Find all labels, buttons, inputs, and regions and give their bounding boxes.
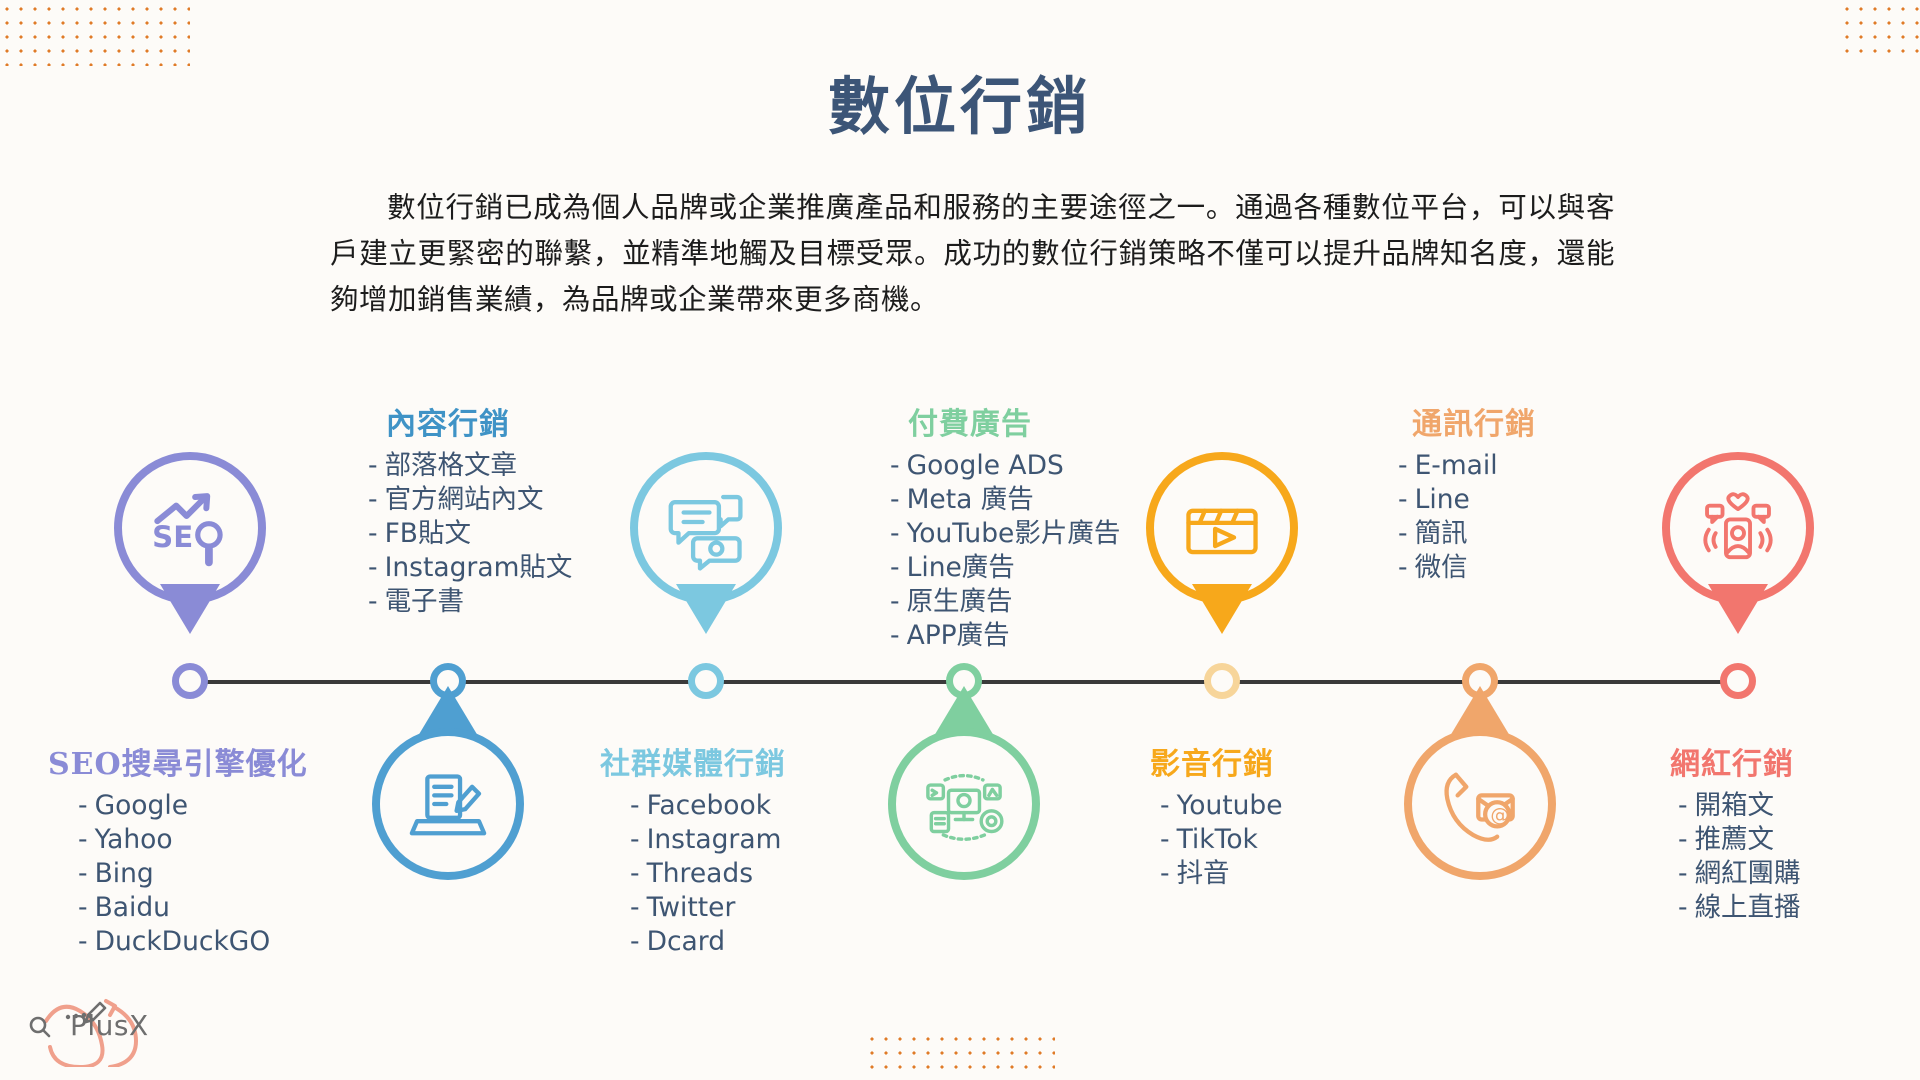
list-item: -部落格文章	[368, 449, 572, 483]
section-heading-seo: SEO搜尋引擎優化	[48, 748, 308, 783]
phone-envelope-at-icon: @	[1437, 761, 1523, 847]
list-item: -Threads	[630, 857, 786, 891]
dot-grid-top-right	[1840, 2, 1920, 62]
timeline-node-seo[interactable]	[172, 663, 208, 699]
section-paid: 付費廣告 -Google ADS -Meta 廣告 -YouTube影片廣告 -…	[890, 408, 1120, 653]
intro-paragraph: 數位行銷已成為個人品牌或企業推廣產品和服務的主要途徑之一。通過各種數位平台，可以…	[330, 185, 1615, 323]
list-item: -E-mail	[1398, 449, 1536, 483]
list-item: -DuckDuckGO	[78, 925, 308, 959]
list-item: -FB貼文	[368, 517, 572, 551]
list-item: -Instagram貼文	[368, 551, 572, 585]
list-item: -簡訊	[1398, 517, 1536, 551]
list-item: -Google	[78, 789, 308, 823]
dot-grid-top-left	[0, 2, 190, 66]
section-list-paid: -Google ADS -Meta 廣告 -YouTube影片廣告 -Line廣…	[890, 449, 1120, 653]
list-item: -YouTube影片廣告	[890, 517, 1120, 551]
list-item: -Yahoo	[78, 823, 308, 857]
section-list-content: -部落格文章 -官方網站內文 -FB貼文 -Instagram貼文 -電子書	[368, 449, 572, 619]
list-item: -Twitter	[630, 891, 786, 925]
section-heading-content: 內容行銷	[368, 408, 572, 443]
infographic-canvas: 數位行銷 數位行銷已成為個人品牌或企業推廣產品和服務的主要途徑之一。通過各種數位…	[0, 0, 1920, 1080]
list-item: -Bing	[78, 857, 308, 891]
logo-wordmark: PlusX	[70, 1009, 149, 1042]
list-item: -Meta 廣告	[890, 483, 1120, 517]
list-item: -網紅團購	[1678, 857, 1801, 891]
section-heading-influencer: 網紅行銷	[1648, 748, 1801, 783]
list-item: -Line	[1398, 483, 1536, 517]
pin-marker-seo[interactable]: SE	[114, 452, 266, 634]
pin-marker-paid[interactable]	[888, 728, 1040, 910]
list-item: -原生廣告	[890, 585, 1120, 619]
pin-marker-content[interactable]	[372, 728, 524, 910]
section-influencer: 網紅行銷 -開箱文 -推薦文 -網紅團購 -線上直播	[1648, 748, 1801, 925]
section-heading-comms: 通訊行銷	[1398, 408, 1536, 443]
timeline-node-video[interactable]	[1204, 663, 1240, 699]
section-heading-social: 社群媒體行銷	[600, 748, 786, 783]
pin-marker-comms[interactable]: @	[1404, 728, 1556, 910]
timeline-node-social[interactable]	[688, 663, 724, 699]
pin-marker-social[interactable]	[630, 452, 782, 634]
list-item: -Facebook	[630, 789, 786, 823]
list-item: -官方網站內文	[368, 483, 572, 517]
section-heading-video: 影音行銷	[1130, 748, 1283, 783]
list-item: -Line廣告	[890, 551, 1120, 585]
list-item: -Dcard	[630, 925, 786, 959]
list-item: -抖音	[1160, 857, 1283, 891]
clapperboard-play-icon	[1179, 485, 1265, 571]
list-item: -微信	[1398, 551, 1536, 585]
dot-grid-bottom-center	[865, 1032, 1055, 1074]
section-list-influencer: -開箱文 -推薦文 -網紅團購 -線上直播	[1648, 789, 1801, 925]
list-item: -Google ADS	[890, 449, 1120, 483]
list-item: -TikTok	[1160, 823, 1283, 857]
list-item: -開箱文	[1678, 789, 1801, 823]
plusx-logo[interactable]: PlusX	[18, 985, 168, 1067]
laptop-document-pen-icon	[405, 761, 491, 847]
section-content: 內容行銷 -部落格文章 -官方網站內文 -FB貼文 -Instagram貼文 -…	[368, 408, 572, 619]
timeline-node-influencer[interactable]	[1720, 663, 1756, 699]
list-item: -Instagram	[630, 823, 786, 857]
section-list-seo: -Google -Yahoo -Bing -Baidu -DuckDuckGO	[48, 789, 308, 959]
pin-marker-video[interactable]	[1146, 452, 1298, 634]
section-list-social: -Facebook -Instagram -Threads -Twitter -…	[600, 789, 786, 959]
list-item: -線上直播	[1678, 891, 1801, 925]
section-comms: 通訊行銷 -E-mail -Line -簡訊 -微信	[1398, 408, 1536, 585]
ad-campaign-icon	[921, 761, 1007, 847]
list-item: -推薦文	[1678, 823, 1801, 857]
section-social: 社群媒體行銷 -Facebook -Instagram -Threads -Tw…	[600, 748, 786, 959]
speech-bubbles-icon	[663, 485, 749, 571]
section-video: 影音行銷 -Youtube -TikTok -抖音	[1130, 748, 1283, 891]
list-item: -Baidu	[78, 891, 308, 925]
section-heading-paid: 付費廣告	[890, 408, 1120, 443]
pin-marker-influencer[interactable]	[1662, 452, 1814, 634]
svg-text:SE: SE	[152, 520, 193, 554]
list-item: -電子書	[368, 585, 572, 619]
section-seo: SEO搜尋引擎優化 -Google -Yahoo -Bing -Baidu -D…	[48, 748, 308, 959]
section-list-comms: -E-mail -Line -簡訊 -微信	[1398, 449, 1536, 585]
svg-text:@: @	[1490, 804, 1509, 826]
phone-influencer-hearts-icon	[1695, 485, 1781, 571]
list-item: -Youtube	[1160, 789, 1283, 823]
section-list-video: -Youtube -TikTok -抖音	[1130, 789, 1283, 891]
page-title: 數位行銷	[0, 76, 1920, 138]
list-item: -APP廣告	[890, 619, 1120, 653]
seo-chart-magnifier-icon: SE	[147, 485, 233, 571]
